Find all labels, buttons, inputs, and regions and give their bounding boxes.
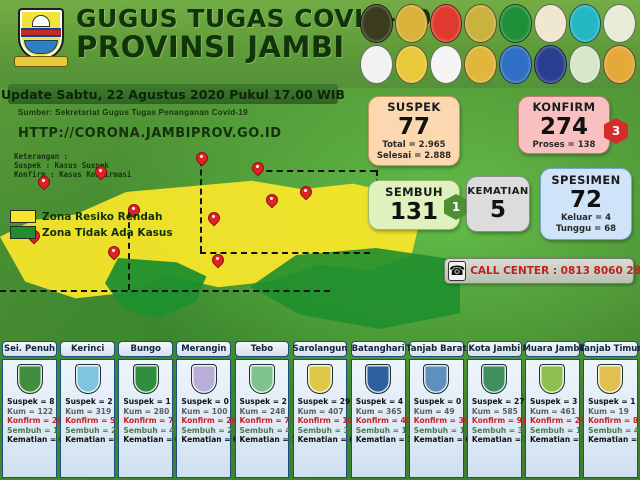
district-stats: Suspek = 4Kum = 365Konfirm = 40Sembuh = … (352, 397, 405, 445)
district-emblem-icon (597, 364, 623, 394)
district-name-label: Tebo (251, 344, 273, 354)
district-card-body: Suspek = 1Kum = 280Konfirm = 7Sembuh = 4… (118, 359, 173, 478)
source-text: Sumber: Sekretariat Gugus Tugas Penangan… (18, 108, 248, 117)
agency-logo-grid (358, 2, 638, 86)
district-stats: Suspek = 2Kum = 319Konfirm = 5Sembuh = 2… (61, 397, 114, 445)
district-stat-suspek: Suspek = 27 (472, 397, 521, 407)
district-name-label: Kota Jambi (468, 344, 520, 354)
dinkes-logo (395, 45, 428, 84)
district-stat-kematian: Kematian = 0 (181, 435, 230, 445)
district-stat-sembuh: Sembuh = 11 (414, 426, 463, 436)
district-card[interactable]: Tanjab BaratSuspek = 0Kum = 49Konfirm = … (408, 340, 465, 480)
district-stat-suspek: Suspek = 2 (240, 397, 289, 407)
district-card[interactable]: MeranginSuspek = 0Kum = 100Konfirm = 26S… (175, 340, 232, 480)
district-name-header: Bungo (118, 341, 173, 357)
district-stat-kematian: Kematian = 1 (240, 435, 289, 445)
map-case-marker (300, 186, 310, 200)
district-emblem-icon (191, 364, 217, 394)
map-dash-line (256, 170, 376, 172)
district-stat-kum: Kum = 319 (65, 407, 114, 417)
district-card-body: Suspek = 4Kum = 365Konfirm = 40Sembuh = … (351, 359, 406, 478)
district-card-body: Suspek = 8Kum = 122Konfirm = 26Sembuh = … (2, 359, 57, 478)
district-card-body: Suspek = 2Kum = 319Konfirm = 5Sembuh = 2… (60, 359, 115, 478)
district-stat-sembuh: Sembuh = 4 (123, 426, 172, 436)
jambi-province-crest-icon (14, 6, 68, 68)
district-stat-sembuh: Sembuh = 2 (65, 426, 114, 436)
pmi-logo (430, 45, 463, 84)
district-stat-kematian: Kematian = 0 (414, 435, 463, 445)
district-stat-suspek: Suspek = 2 (65, 397, 114, 407)
district-stat-konfirm: Konfirm = 91 (472, 416, 521, 426)
district-stat-konfirm: Konfirm = 24 (530, 416, 579, 426)
district-stat-kematian: Kematian = 0 (298, 435, 347, 445)
district-stat-kum: Kum = 100 (181, 407, 230, 417)
stat-sub-spesimen-keluar: Keluar = 4 (561, 213, 611, 224)
district-stat-suspek: Suspek = 1 (588, 397, 637, 407)
poster-title-line2: PROVINSI JAMBI (76, 30, 376, 64)
district-stats: Suspek = 3Kum = 461Konfirm = 24Sembuh = … (526, 397, 579, 445)
district-stat-sembuh: Sembuh = 21 (181, 426, 230, 436)
district-name-label: Tanjab Barat (406, 344, 466, 354)
district-name-header: Kota Jambi (467, 341, 522, 357)
district-stat-kematian: Kematian = 1 (530, 435, 579, 445)
district-card-body: Suspek = 0Kum = 100Konfirm = 26Sembuh = … (176, 359, 231, 478)
district-name-header: Merangin (176, 341, 231, 357)
zone-no-case-label: Zona Tidak Ada Kasus (42, 227, 173, 239)
satpol-pp-logo (534, 45, 567, 84)
district-emblem-icon (481, 364, 507, 394)
district-card[interactable]: BatanghariSuspek = 4Kum = 365Konfirm = 4… (350, 340, 407, 480)
district-emblem-icon (307, 364, 333, 394)
district-name-label: Bungo (130, 344, 161, 354)
district-card-row: Sei. PenuhSuspek = 8Kum = 122Konfirm = 2… (0, 340, 640, 480)
district-name-header: Tanjab Timur (583, 341, 638, 357)
stat-label-suspek: SUSPEK (387, 100, 441, 114)
district-stat-sembuh: Sembuh = 15 (7, 426, 56, 436)
district-stat-sembuh: Sembuh = 37 (472, 426, 521, 436)
stat-card-kematian: KEMATIAN 5 (466, 176, 530, 232)
district-stat-konfirm: Konfirm = 30 (414, 416, 463, 426)
map-dash-line (200, 160, 202, 252)
district-card-body: Suspek = 0Kum = 49Konfirm = 30Sembuh = 1… (409, 359, 464, 478)
map-case-marker (212, 254, 222, 268)
district-card-body: Suspek = 3Kum = 461Konfirm = 24Sembuh = … (525, 359, 580, 478)
district-name-header: Muara Jambi (525, 341, 580, 357)
district-card[interactable]: Muara JambiSuspek = 3Kum = 461Konfirm = … (524, 340, 581, 480)
district-name-label: Sei. Penuh (4, 344, 55, 354)
map-case-marker (208, 212, 218, 226)
stat-value-kematian: 5 (490, 197, 506, 223)
district-stats: Suspek = 27Kum = 585Konfirm = 91Sembuh =… (468, 397, 521, 445)
district-name-header: Tebo (235, 341, 290, 357)
district-stat-konfirm: Konfirm = 7 (123, 416, 172, 426)
call-center-banner[interactable]: ☎ CALL CENTER : 0813 8060 2802 (444, 258, 634, 284)
website-url[interactable]: HTTP://CORONA.JAMBIPROV.GO.ID (18, 126, 282, 141)
district-stat-konfirm: Konfirm = 10 (298, 416, 347, 426)
district-card[interactable]: TeboSuspek = 2Kum = 248Konfirm = 7Sembuh… (233, 340, 290, 480)
district-stats: Suspek = 1Kum = 280Konfirm = 7Sembuh = 4… (119, 397, 172, 445)
district-stat-kum: Kum = 585 (472, 407, 521, 417)
district-stat-kematian: Kematian = 0 (123, 435, 172, 445)
stat-sub-spesimen-tunggu: Tunggu = 68 (556, 224, 616, 235)
stat-value-konfirm: 274 (540, 114, 588, 140)
district-stats: Suspek = 29Kum = 407Konfirm = 10Sembuh =… (294, 397, 347, 445)
map-case-marker (38, 176, 48, 190)
tni-logo (464, 45, 497, 84)
district-stats: Suspek = 0Kum = 100Konfirm = 26Sembuh = … (177, 397, 230, 445)
district-stat-konfirm: Konfirm = 8 (588, 416, 637, 426)
stat-card-konfirm: KONFIRM 274 Proses = 138 (518, 96, 610, 154)
district-stat-konfirm: Konfirm = 5 (65, 416, 114, 426)
district-stat-suspek: Suspek = 3 (530, 397, 579, 407)
bnpb-logo (430, 4, 463, 43)
district-stats: Suspek = 2Kum = 248Konfirm = 7Sembuh = 4… (236, 397, 289, 445)
poster-title-line1: GUGUS TUGAS COVID-19 (76, 4, 376, 33)
district-stat-kematian: Kematian = 1 (356, 435, 405, 445)
district-stat-kum: Kum = 461 (530, 407, 579, 417)
district-stats: Suspek = 1Kum = 19Konfirm = 8Sembuh = 4K… (584, 397, 637, 445)
map-dash-line (0, 290, 330, 292)
district-stat-kematian: Kematian = 1 (472, 435, 521, 445)
district-card[interactable]: BungoSuspek = 1Kum = 280Konfirm = 7Sembu… (117, 340, 174, 480)
district-card-body: Suspek = 27Kum = 585Konfirm = 91Sembuh =… (467, 359, 522, 478)
basarnas-logo (603, 45, 636, 84)
district-stat-konfirm: Konfirm = 26 (7, 416, 56, 426)
district-card[interactable]: Sei. PenuhSuspek = 8Kum = 122Konfirm = 2… (1, 340, 58, 480)
stat-sub-konfirm-proses: Proses = 138 (533, 140, 596, 151)
district-stat-sembuh: Sembuh = 3 (298, 426, 347, 436)
map-case-marker (95, 166, 105, 180)
district-stat-kum: Kum = 407 (298, 407, 347, 417)
stat-value-suspek: 77 (398, 114, 430, 140)
district-emblem-icon (539, 364, 565, 394)
stat-label-spesimen: SPESIMEN (551, 173, 620, 187)
district-stat-suspek: Suspek = 29 (298, 397, 347, 407)
map-legend: Zona Resiko RendahZona Tidak Ada Kasus (10, 210, 173, 242)
map-case-marker (266, 194, 276, 208)
map-case-marker (252, 162, 262, 176)
district-stat-kematian: Kematian = 1 (65, 435, 114, 445)
legend-row: Zona Tidak Ada Kasus (10, 226, 173, 239)
update-timestamp-text: Update Sabtu, 22 Agustus 2020 Pukul 17.0… (1, 87, 345, 102)
district-emblem-icon (17, 364, 43, 394)
stat-value-spesimen: 72 (570, 187, 602, 213)
district-name-label: Sarolangun (293, 344, 348, 354)
district-name-label: Batanghari (352, 344, 405, 354)
polda-jambi-logo (360, 4, 393, 43)
district-stat-sembuh: Sembuh = 15 (530, 426, 579, 436)
district-stat-konfirm: Konfirm = 26 (181, 416, 230, 426)
district-stats: Suspek = 8Kum = 122Konfirm = 26Sembuh = … (3, 397, 56, 445)
district-stat-sembuh: Sembuh = 15 (356, 426, 405, 436)
district-card[interactable]: KerinciSuspek = 2Kum = 319Konfirm = 5Sem… (59, 340, 116, 480)
stat-card-spesimen: SPESIMEN 72 Keluar = 4 Tunggu = 68 (540, 168, 632, 240)
district-stat-kematian: Kematian = 0 (7, 435, 56, 445)
district-stat-suspek: Suspek = 0 (181, 397, 230, 407)
covid-dashboard-poster: GUGUS TUGAS COVID-19 PROVINSI JAMBI Upda… (0, 0, 640, 480)
district-stat-kematian: Kematian = 0 (588, 435, 637, 445)
diskominfo-logo (499, 45, 532, 84)
district-card[interactable]: SarolangunSuspek = 29Kum = 407Konfirm = … (291, 340, 348, 480)
stat-value-sembuh: 131 (390, 199, 438, 225)
district-name-header: Batanghari (351, 341, 406, 357)
kemenag-logo (499, 4, 532, 43)
district-stat-konfirm: Konfirm = 7 (240, 416, 289, 426)
district-card-body: Suspek = 1Kum = 19Konfirm = 8Sembuh = 4K… (583, 359, 638, 478)
stat-card-suspek: SUSPEK 77 Total = 2.965 Selesai = 2.888 (368, 96, 460, 166)
jambi-province-map (0, 150, 460, 340)
district-emblem-icon (423, 364, 449, 394)
kejaksaan-logo (464, 4, 497, 43)
district-stat-suspek: Suspek = 8 (7, 397, 56, 407)
district-stat-konfirm: Konfirm = 40 (356, 416, 405, 426)
district-name-label: Tanjab Timur (579, 344, 640, 354)
update-timestamp-bar: Update Sabtu, 22 Agustus 2020 Pukul 17.0… (8, 84, 338, 104)
district-card[interactable]: Kota JambiSuspek = 27Kum = 585Konfirm = … (466, 340, 523, 480)
map-case-marker (196, 152, 206, 166)
district-stat-kum: Kum = 19 (588, 407, 637, 417)
map-dash-line (200, 252, 370, 254)
district-stat-kum: Kum = 280 (123, 407, 172, 417)
stat-label-kematian: KEMATIAN (467, 186, 528, 197)
district-name-header: Tanjab Barat (409, 341, 464, 357)
legend-row: Zona Resiko Rendah (10, 210, 173, 223)
district-stat-sembuh: Sembuh = 4 (240, 426, 289, 436)
district-name-header: Sarolangun (293, 341, 348, 357)
idi-logo (360, 45, 393, 84)
district-name-header: Sei. Penuh (2, 341, 57, 357)
phone-icon: ☎ (448, 261, 466, 281)
kodam-logo (395, 4, 428, 43)
district-name-label: Kerinci (71, 344, 104, 354)
district-card[interactable]: Tanjab TimurSuspek = 1Kum = 19Konfirm = … (582, 340, 639, 480)
district-stats: Suspek = 0Kum = 49Konfirm = 30Sembuh = 1… (410, 397, 463, 445)
kemenkes-logo (569, 4, 602, 43)
district-stat-suspek: Suspek = 0 (414, 397, 463, 407)
district-name-header: Kerinci (60, 341, 115, 357)
poster-header: GUGUS TUGAS COVID-19 PROVINSI JAMBI (0, 0, 640, 88)
district-emblem-icon (133, 364, 159, 394)
stat-sub-suspek-selesai: Selesai = 2.888 (377, 151, 451, 162)
zone-low-risk-label: Zona Resiko Rendah (42, 211, 162, 223)
district-card-body: Suspek = 29Kum = 407Konfirm = 10Sembuh =… (293, 359, 348, 478)
district-emblem-icon (365, 364, 391, 394)
call-center-label: CALL CENTER : 0813 8060 2802 (470, 265, 640, 277)
district-stat-kum: Kum = 365 (356, 407, 405, 417)
district-stat-suspek: Suspek = 4 (356, 397, 405, 407)
zone-no-case-swatch (10, 226, 36, 239)
district-name-label: Merangin (181, 344, 226, 354)
district-stat-kum: Kum = 122 (7, 407, 56, 417)
stat-sub-suspek-total: Total = 2.965 (382, 140, 445, 151)
stat-label-sembuh: SEMBUH (385, 185, 443, 199)
pemprov-logo (534, 4, 567, 43)
zone-low-risk-swatch (10, 210, 36, 223)
kementan-logo (603, 4, 636, 43)
stat-label-konfirm: KONFIRM (532, 100, 595, 114)
district-stat-kum: Kum = 49 (414, 407, 463, 417)
bpjs-logo (569, 45, 602, 84)
district-card-body: Suspek = 2Kum = 248Konfirm = 7Sembuh = 4… (235, 359, 290, 478)
district-name-label: Muara Jambi (522, 344, 582, 354)
district-stat-kum: Kum = 248 (240, 407, 289, 417)
district-emblem-icon (249, 364, 275, 394)
district-emblem-icon (75, 364, 101, 394)
district-stat-sembuh: Sembuh = 4 (588, 426, 637, 436)
district-stat-suspek: Suspek = 1 (123, 397, 172, 407)
map-case-marker (108, 246, 118, 260)
